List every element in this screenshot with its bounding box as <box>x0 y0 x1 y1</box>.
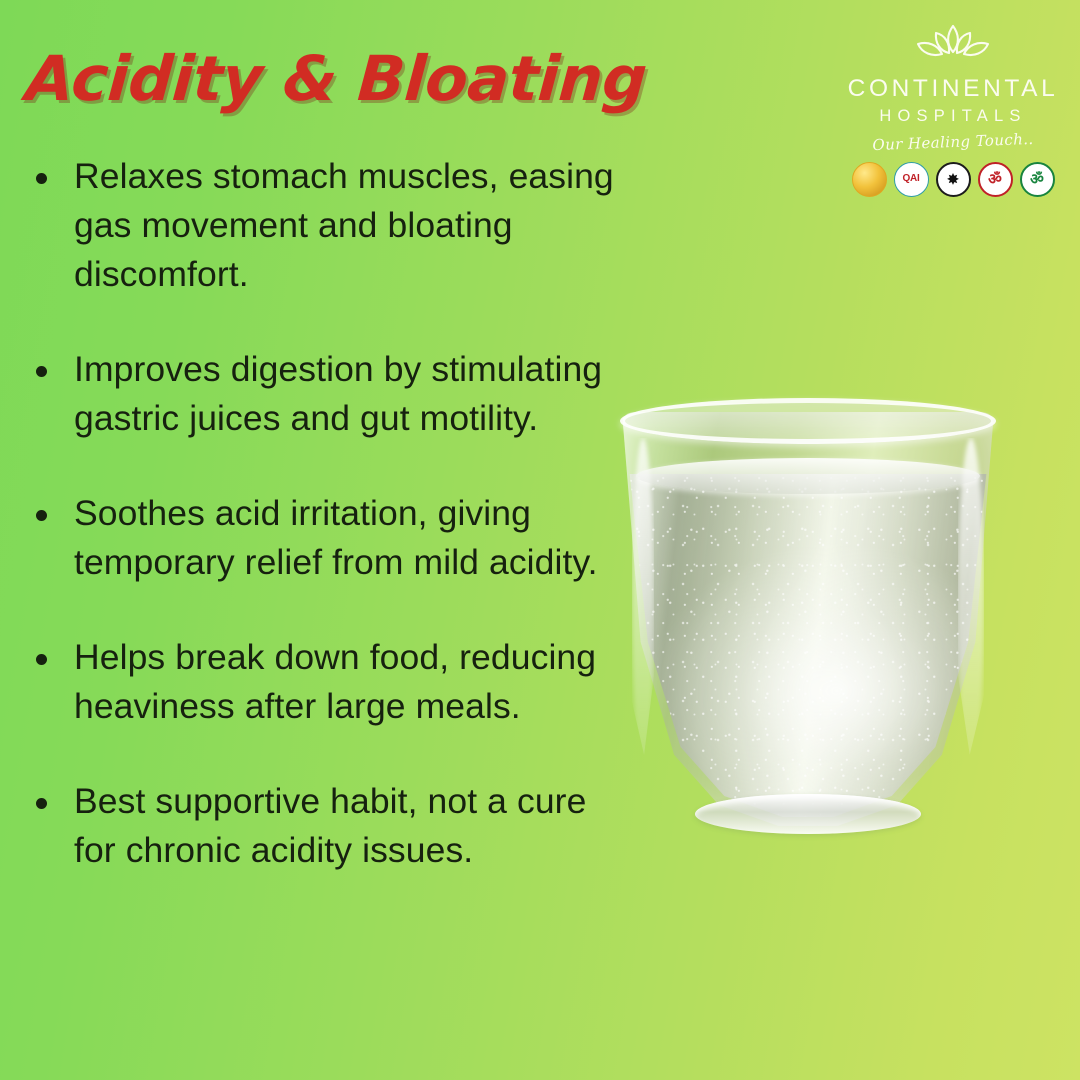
glass-highlight-left <box>632 438 654 768</box>
qai-accreditation-badge: QAI <box>894 162 929 197</box>
list-item: Relaxes stomach muscles, easing gas move… <box>22 152 622 299</box>
list-item: Soothes acid irritation, giving temporar… <box>22 489 622 587</box>
glass-rim <box>620 398 996 444</box>
brand-logo: CONTINENTAL HOSPITALS Our Healing Touch.… <box>842 22 1064 197</box>
poster-canvas: Acidity & Bloating CONTINENTAL HOSPITALS… <box>0 0 1080 1080</box>
water-bubbles <box>626 474 990 824</box>
logo-subtitle: HOSPITALS <box>842 107 1064 126</box>
bullet-dot-icon <box>36 173 47 184</box>
jci-seal-badge: ✸ <box>936 162 971 197</box>
nabh-accreditation-badge-label: ॐ <box>988 172 1002 187</box>
benefits-list: Relaxes stomach muscles, easing gas move… <box>22 152 622 875</box>
bullet-dot-icon <box>36 798 47 809</box>
list-item: Helps break down food, reducing heavines… <box>22 633 622 731</box>
list-item-text: Soothes acid irritation, giving temporar… <box>74 493 598 582</box>
water-surface <box>636 458 980 494</box>
bullet-dot-icon <box>36 510 47 521</box>
jci-seal-badge-label: ✸ <box>947 172 959 186</box>
glass-of-water-image <box>616 398 1000 836</box>
accreditation-badges: QAI ✸ ॐ ॐ <box>842 162 1064 197</box>
logo-name: CONTINENTAL <box>842 76 1064 102</box>
bullet-dot-icon <box>36 366 47 377</box>
logo-tagline: Our Healing Touch.. <box>842 128 1065 155</box>
glass-base <box>695 794 921 834</box>
lotus-icon <box>905 22 1001 72</box>
gold-seal-badge <box>852 162 887 197</box>
qai-accreditation-badge-label: QAI <box>903 174 920 184</box>
list-item: Best supportive habit, not a cure for ch… <box>22 777 622 875</box>
bullet-dot-icon <box>36 654 47 665</box>
nabl-accreditation-badge: ॐ <box>1020 162 1055 197</box>
list-item: Improves digestion by stimulating gastri… <box>22 345 622 443</box>
nabh-accreditation-badge: ॐ <box>978 162 1013 197</box>
list-item-text: Improves digestion by stimulating gastri… <box>74 349 602 438</box>
nabl-accreditation-badge-label: ॐ <box>1030 172 1044 187</box>
page-title: Acidity & Bloating <box>23 42 648 115</box>
list-item-text: Best supportive habit, not a cure for ch… <box>74 781 586 870</box>
list-item-text: Relaxes stomach muscles, easing gas move… <box>74 156 614 294</box>
glass-highlight-right <box>958 438 984 768</box>
list-item-text: Helps break down food, reducing heavines… <box>74 637 596 726</box>
